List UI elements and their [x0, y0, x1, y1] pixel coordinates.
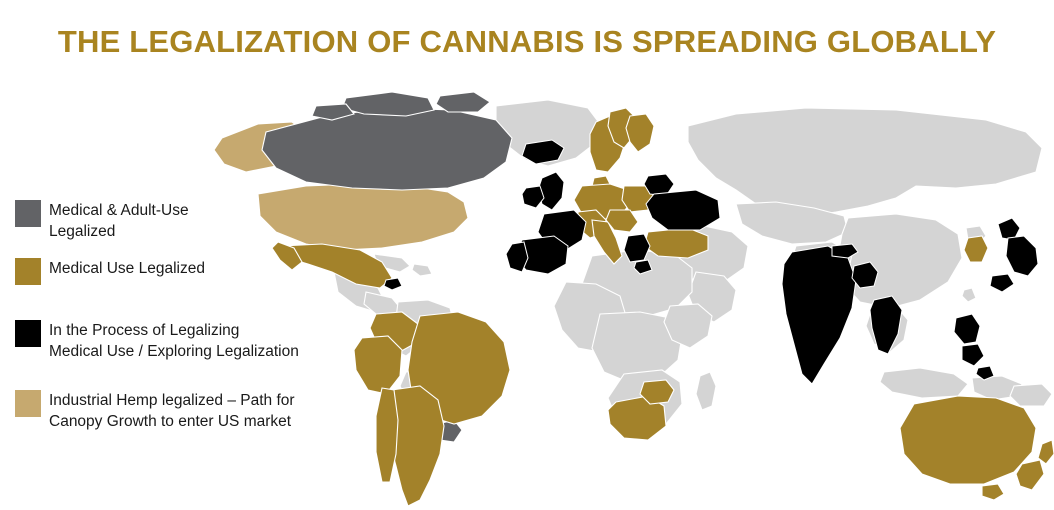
- legend-swatch-medical-use: [15, 258, 41, 285]
- legend-item-medical-use[interactable]: Medical Use Legalized: [15, 258, 205, 285]
- legend-item-in-process[interactable]: In the Process of Legalizing Medical Use…: [15, 320, 299, 362]
- legend-label-in-process: In the Process of Legalizing Medical Use…: [49, 320, 299, 362]
- page-title: THE LEGALIZATION OF CANNABIS IS SPREADIN…: [0, 24, 1054, 60]
- legend-swatch-medical-adult-use: [15, 200, 41, 227]
- legend-swatch-in-process: [15, 320, 41, 347]
- legend-label-industrial-hemp: Industrial Hemp legalized – Path for Can…: [49, 390, 295, 432]
- legend-item-medical-adult-use[interactable]: Medical & Adult-Use Legalized: [15, 200, 189, 242]
- legend-item-industrial-hemp[interactable]: Industrial Hemp legalized – Path for Can…: [15, 390, 295, 432]
- legend-label-medical-adult-use: Medical & Adult-Use Legalized: [49, 200, 189, 242]
- legend-swatch-industrial-hemp: [15, 390, 41, 417]
- world-map: [196, 86, 1054, 510]
- legend-label-medical-use: Medical Use Legalized: [49, 258, 205, 280]
- infographic-root: THE LEGALIZATION OF CANNABIS IS SPREADIN…: [0, 0, 1054, 510]
